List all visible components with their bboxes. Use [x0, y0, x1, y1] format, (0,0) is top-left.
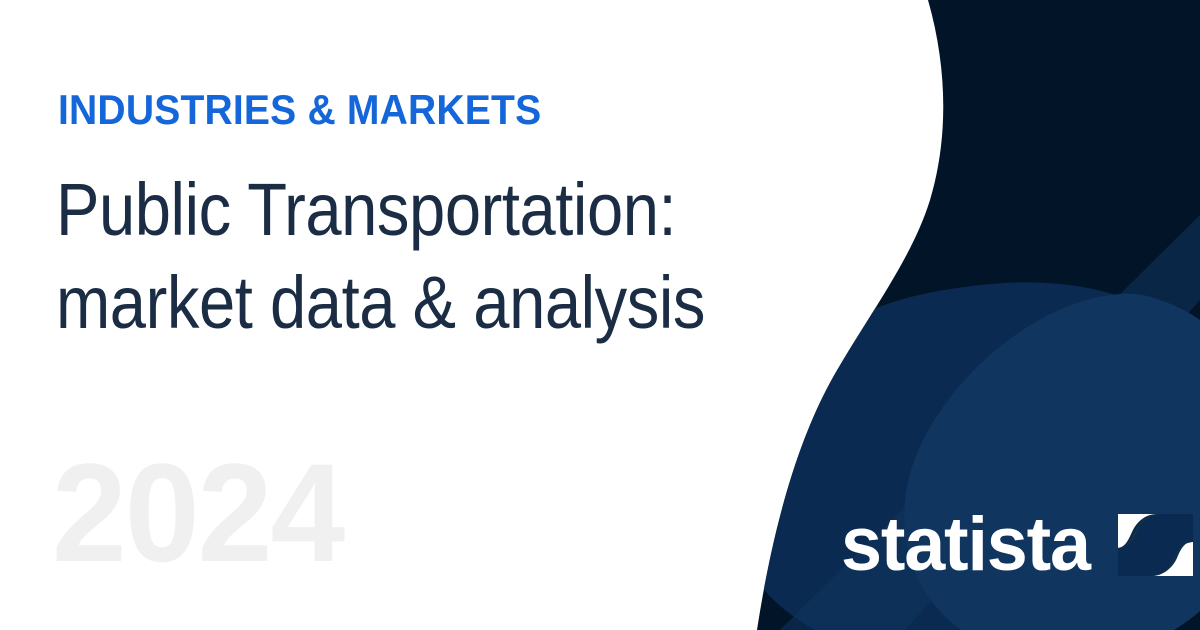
report-year: 2024 [52, 443, 343, 583]
statista-logo: statista [841, 506, 1193, 584]
statista-wordmark: statista [841, 506, 1090, 584]
statista-s-curve-mark [1118, 514, 1193, 576]
page-title: Public Transportation: market data & ana… [56, 163, 742, 349]
statista-report-cover: INDUSTRIES & MARKETS Public Transportati… [0, 0, 1200, 630]
page-title-line-2: market data & analysis [56, 256, 742, 349]
category-kicker: INDUSTRIES & MARKETS [58, 86, 541, 134]
page-title-line-1: Public Transportation: [56, 163, 742, 256]
cover-content: INDUSTRIES & MARKETS Public Transportati… [0, 0, 1200, 630]
